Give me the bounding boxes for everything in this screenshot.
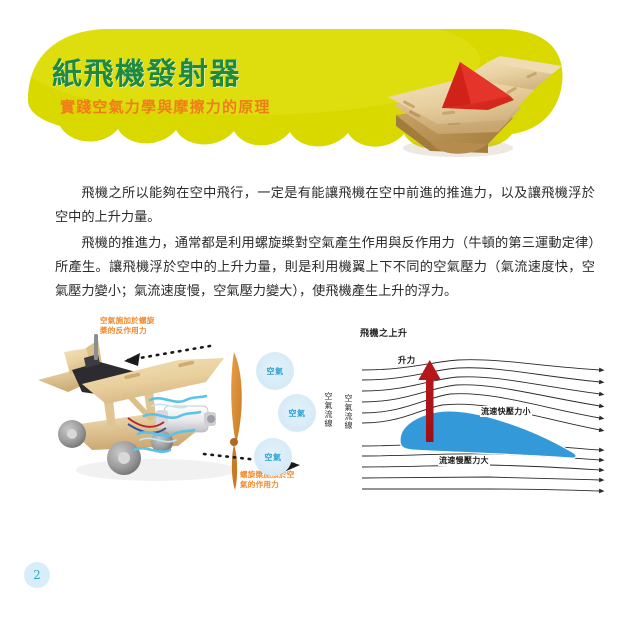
paragraph-1: 飛機之所以能夠在空中飛行，一定是有能讓飛機在空中前進的推進力，以及讓飛機浮於空中… — [55, 182, 595, 230]
product-photo — [338, 52, 578, 162]
page-title: 紙飛機發射器 — [52, 58, 352, 92]
air-bubble-3-label: 空氣 — [265, 452, 282, 463]
figure-propeller: 空氣施加於螺旋 槳的反作用力 螺旋槳施加於空 氣的作用力 — [28, 318, 338, 533]
launcher-illustration — [338, 52, 578, 162]
airfoil-streamlines — [338, 322, 628, 522]
label-airflow-left: 空氣流線 — [324, 392, 332, 428]
air-bubble-3: 空氣 — [254, 438, 292, 476]
page-subtitle: 實踐空氣力學與摩擦力的原理 — [60, 98, 352, 116]
label-reaction-force: 空氣施加於螺旋 槳的反作用力 — [100, 316, 182, 337]
air-bubble-2-label: 空氣 — [289, 408, 306, 419]
body-text: 飛機之所以能夠在空中飛行，一定是有能讓飛機在空中前進的推進力，以及讓飛機浮於空中… — [55, 182, 595, 306]
air-bubble-2: 空氣 — [278, 394, 316, 432]
label-streamline: 空氣流線 — [344, 394, 352, 430]
label-reaction-force-line1: 空氣施加於螺旋 — [100, 316, 182, 326]
label-slow-high-pressure: 流速慢壓力大 — [438, 455, 490, 466]
title-block: 紙飛機發射器 實踐空氣力學與摩擦力的原理 — [52, 58, 352, 116]
label-reaction-force-line2: 槳的反作用力 — [100, 326, 182, 336]
page-canvas: 紙飛機發射器 實踐空氣力學與摩擦力的原理 — [0, 0, 640, 640]
air-bubble-1: 空氣 — [256, 352, 294, 390]
figure-airfoil-title: 飛機之上升 — [360, 326, 408, 339]
paragraph-2: 飛機的推進力，通常都是利用螺旋槳對空氣產生作用與反作用力（牛頓的第三運動定律）所… — [55, 232, 595, 304]
label-fast-low-pressure: 流速快壓力小 — [480, 406, 532, 417]
air-bubble-1-label: 空氣 — [267, 366, 284, 377]
page-number: 2 — [24, 562, 50, 588]
label-lift: 升力 — [398, 354, 416, 366]
figure-airfoil: 飛機之上升 升力 空氣流線 流速快壓力小 流速慢壓力大 — [338, 322, 628, 522]
figures-row: 空氣施加於螺旋 槳的反作用力 螺旋槳施加於空 氣的作用力 — [0, 318, 640, 533]
label-action-force-line2: 氣的作用力 — [240, 480, 322, 490]
